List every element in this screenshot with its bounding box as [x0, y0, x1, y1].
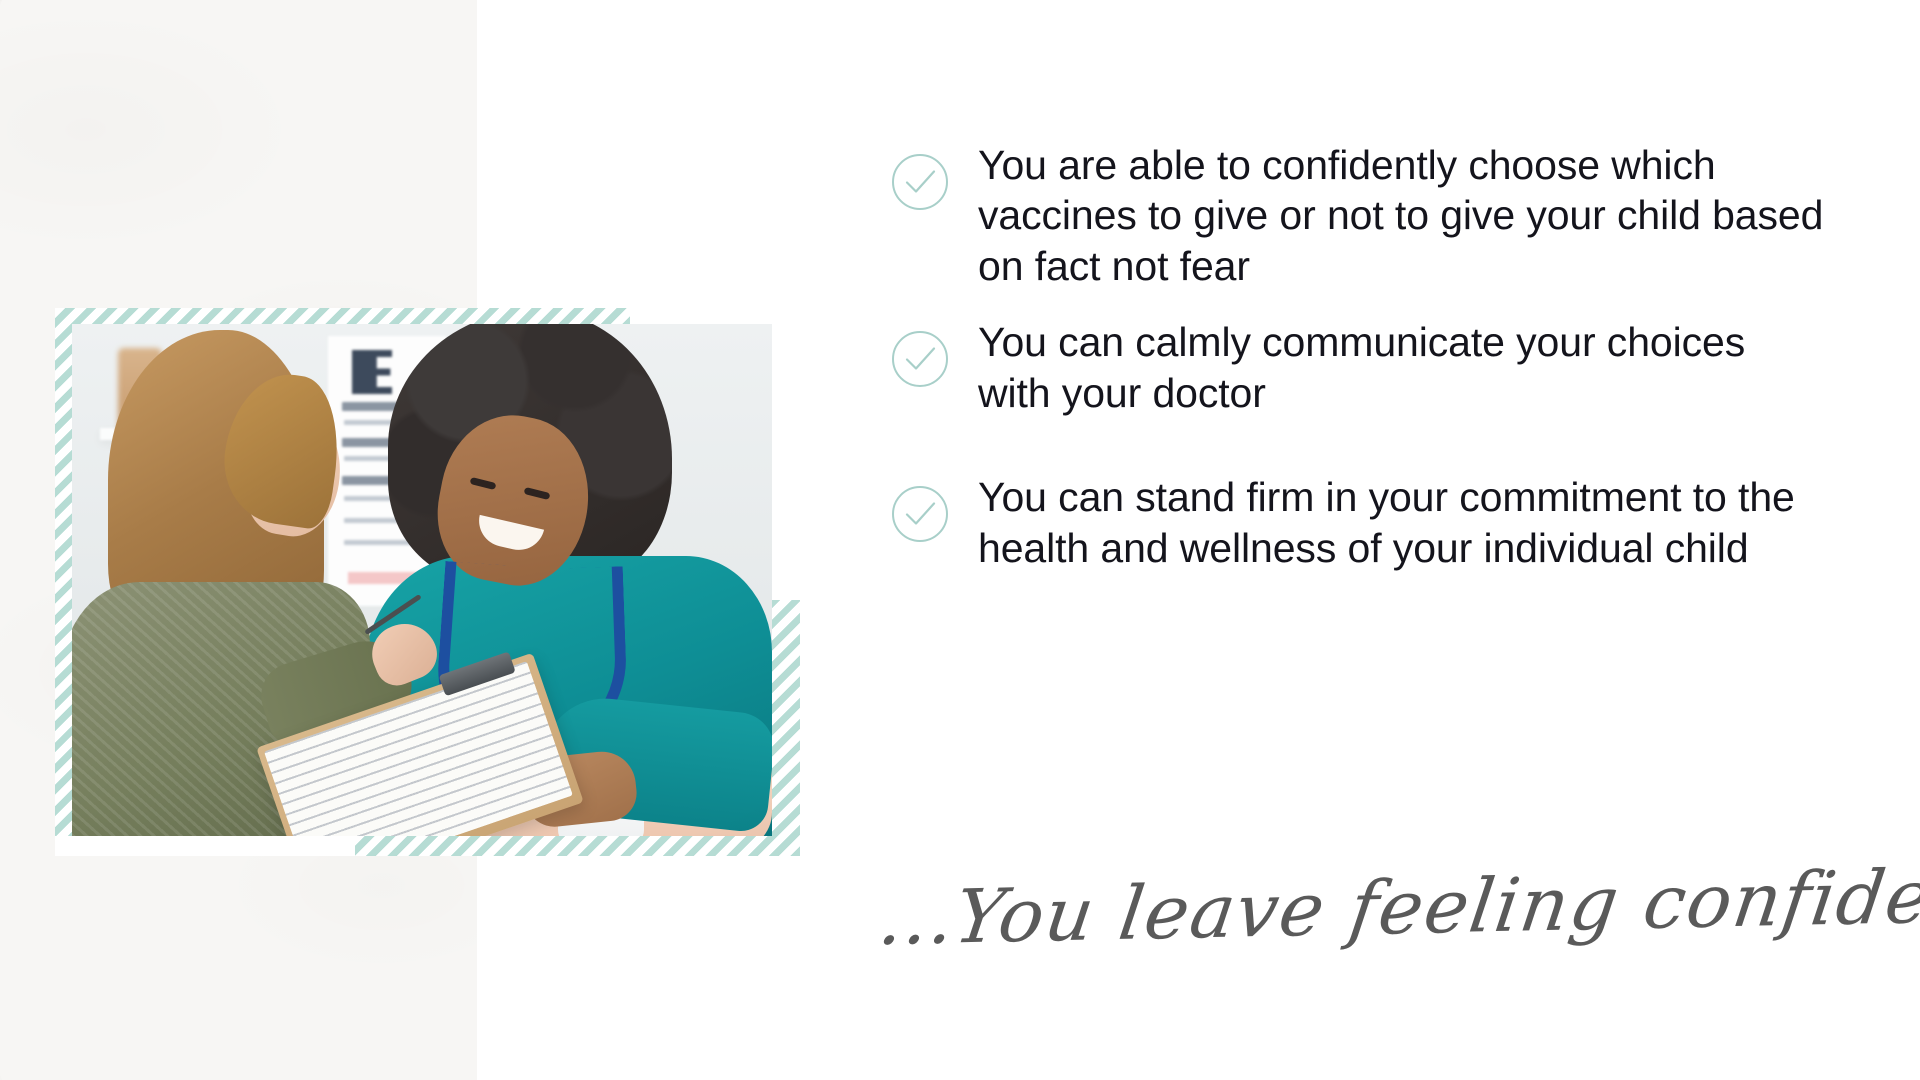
clinic-photo: [72, 324, 772, 836]
photo-card: [55, 308, 800, 856]
list-item-label: You can stand firm in your commitment to…: [978, 472, 1825, 573]
content-column: You are able to confidently choose which…: [890, 0, 1850, 1080]
check-circle-icon: [890, 484, 950, 544]
check-circle-icon: [890, 329, 950, 389]
check-circle-icon: [890, 152, 950, 212]
eye-chart-line: [344, 540, 416, 545]
list-item-label: You are able to confidently choose which…: [978, 140, 1825, 291]
list-item: You can stand firm in your commitment to…: [890, 472, 1825, 573]
list-item: You can calmly communicate your choices …: [890, 317, 1825, 418]
slide-canvas: You are able to confidently choose which…: [0, 0, 1920, 1080]
closing-script-text: ...You leave feeling confident!: [875, 862, 1848, 956]
benefits-list: You are able to confidently choose which…: [890, 140, 1825, 573]
stripe-mask-bottom-left: [55, 836, 355, 856]
list-item: You are able to confidently choose which…: [890, 140, 1825, 291]
list-item-label: You can calmly communicate your choices …: [978, 317, 1825, 418]
